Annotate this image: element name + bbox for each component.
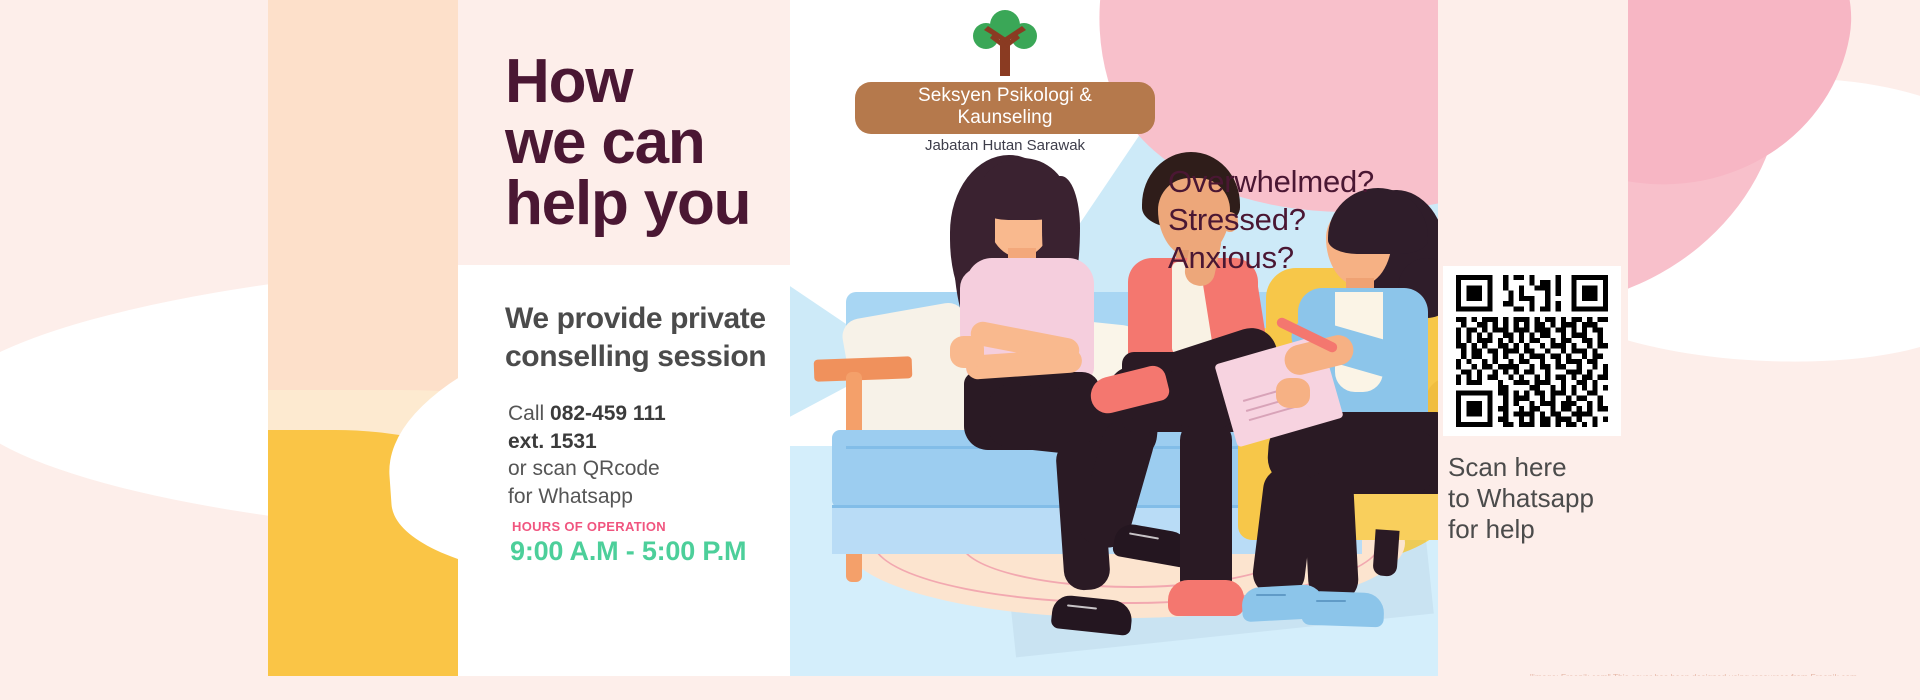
tree-icon: [966, 8, 1044, 80]
shoe-lace: [1316, 600, 1346, 602]
hours-label: HOURS OF OPERATION: [512, 519, 666, 534]
extension-value: ext. 1531: [508, 430, 597, 453]
client-man-leg-down: [1180, 420, 1232, 600]
qr-caption-line-2: to Whatsapp: [1448, 483, 1638, 514]
subtitle-line-1: We provide private: [505, 300, 835, 338]
phone-number[interactable]: 082-459 111: [550, 402, 666, 425]
subtitle: We provide private conselling session: [505, 300, 835, 377]
counselor-shin-2: [1303, 471, 1360, 603]
question-2: Stressed?: [1168, 201, 1468, 239]
organisation-logo: Seksyen Psikologi & Kaunseling Jabatan H…: [855, 8, 1155, 154]
shoe-lace: [1256, 594, 1286, 596]
counselor-hand: [1276, 378, 1310, 408]
qr-caption-line-3: for help: [1448, 514, 1638, 545]
call-line: Call 082-459 111: [508, 400, 808, 428]
page-title: How we can help you: [505, 52, 865, 234]
armchair-leg: [1372, 529, 1399, 577]
subtitle-line-2: conselling session: [505, 338, 835, 376]
poster-canvas: How we can help you We provide private c…: [0, 0, 1920, 700]
counselor-shoe-2: [1301, 591, 1384, 628]
contact-block: Call 082-459 111 ext. 1531 or scan QRcod…: [508, 400, 808, 511]
qr-caption-line-1: Scan here: [1448, 452, 1638, 483]
client-man-shoe-down: [1168, 580, 1244, 616]
call-line-4: for Whatsapp: [508, 483, 808, 511]
call-extension: ext. 1531: [508, 428, 808, 456]
qr-code-icon[interactable]: [1452, 275, 1612, 427]
call-prefix: Call: [508, 402, 550, 425]
questions-block: Overwhelmed? Stressed? Anxious?: [1168, 163, 1468, 277]
question-1: Overwhelmed?: [1168, 163, 1468, 201]
client-woman-hand: [950, 336, 984, 368]
logo-banner-text: Seksyen Psikologi & Kaunseling: [855, 82, 1155, 134]
qr-caption: Scan here to Whatsapp for help: [1448, 452, 1638, 546]
hours-value: 9:00 A.M - 5:00 P.M: [510, 536, 746, 567]
headline-line-3: help you: [505, 174, 865, 235]
headline-line-2: we can: [505, 113, 865, 174]
logo-subtitle: Jabatan Hutan Sarawak: [855, 137, 1155, 154]
headline-line-1: How: [505, 52, 865, 113]
question-3: Anxious?: [1168, 239, 1468, 277]
bottom-strip: [0, 676, 1920, 700]
call-line-3: or scan QRcode: [508, 455, 808, 483]
